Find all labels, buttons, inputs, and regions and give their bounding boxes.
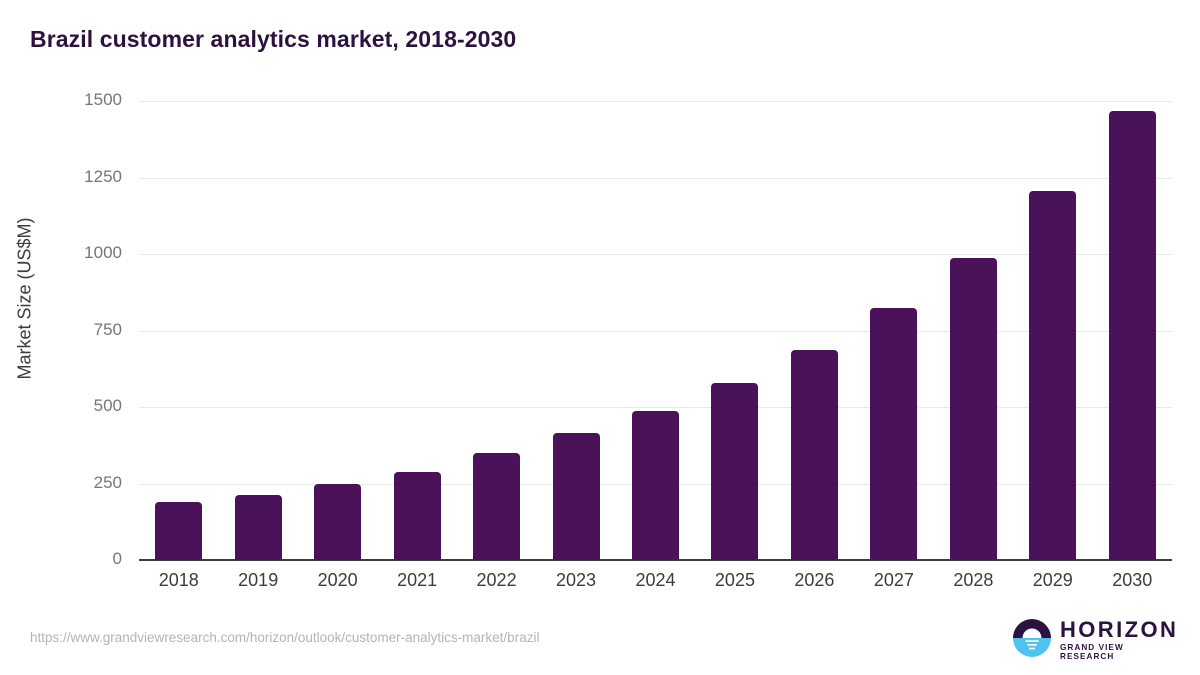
y-axis-tick-label: 0 (0, 549, 122, 569)
horizon-sun-circle-icon (1013, 619, 1051, 662)
y-axis-tick-labels: 0250500750100012501500 (0, 0, 122, 675)
bar[interactable] (1109, 111, 1156, 560)
bar[interactable] (950, 258, 997, 560)
horizon-logo[interactable]: HORIZON GRAND VIEW RESEARCH (1013, 617, 1173, 663)
y-axis-tick-label: 250 (0, 473, 122, 493)
bar[interactable] (870, 308, 917, 560)
y-axis-tick-label: 750 (0, 320, 122, 340)
x-axis-tick-label: 2025 (695, 570, 775, 591)
logo-text: HORIZON GRAND VIEW RESEARCH (1060, 619, 1178, 660)
x-axis-tick-label: 2028 (933, 570, 1013, 591)
source-url[interactable]: https://www.grandviewresearch.com/horizo… (30, 630, 539, 645)
y-axis-tick-label: 1000 (0, 243, 122, 263)
bar[interactable] (235, 495, 282, 560)
bar[interactable] (473, 453, 520, 560)
x-axis-tick-label: 2029 (1013, 570, 1093, 591)
x-axis-tick-label: 2022 (457, 570, 537, 591)
bar[interactable] (394, 472, 441, 560)
y-axis-tick-label: 500 (0, 396, 122, 416)
y-axis-tick-label: 1500 (0, 90, 122, 110)
chart-page: Brazil customer analytics market, 2018-2… (0, 0, 1200, 675)
y-axis-tick-label: 1250 (0, 167, 122, 187)
x-axis-tick-labels: 2018201920202021202220232024202520262027… (139, 570, 1172, 600)
bar[interactable] (711, 383, 758, 560)
logo-tagline: GRAND VIEW RESEARCH (1060, 644, 1178, 660)
x-axis-tick-label: 2019 (218, 570, 298, 591)
x-axis-tick-label: 2020 (298, 570, 378, 591)
bar[interactable] (155, 502, 202, 560)
x-axis-tick-label: 2024 (616, 570, 696, 591)
bar[interactable] (791, 350, 838, 560)
bar[interactable] (553, 433, 600, 560)
x-axis-tick-label: 2021 (377, 570, 457, 591)
bar[interactable] (632, 411, 679, 560)
x-axis-tick-label: 2026 (774, 570, 854, 591)
x-axis-tick-label: 2030 (1092, 570, 1172, 591)
bar[interactable] (314, 484, 361, 560)
x-axis-tick-label: 2018 (139, 570, 219, 591)
x-axis-tick-label: 2027 (854, 570, 934, 591)
logo-wordmark: HORIZON (1060, 619, 1178, 641)
bar[interactable] (1029, 191, 1076, 560)
x-axis-tick-label: 2023 (536, 570, 616, 591)
bar-series (139, 101, 1172, 560)
